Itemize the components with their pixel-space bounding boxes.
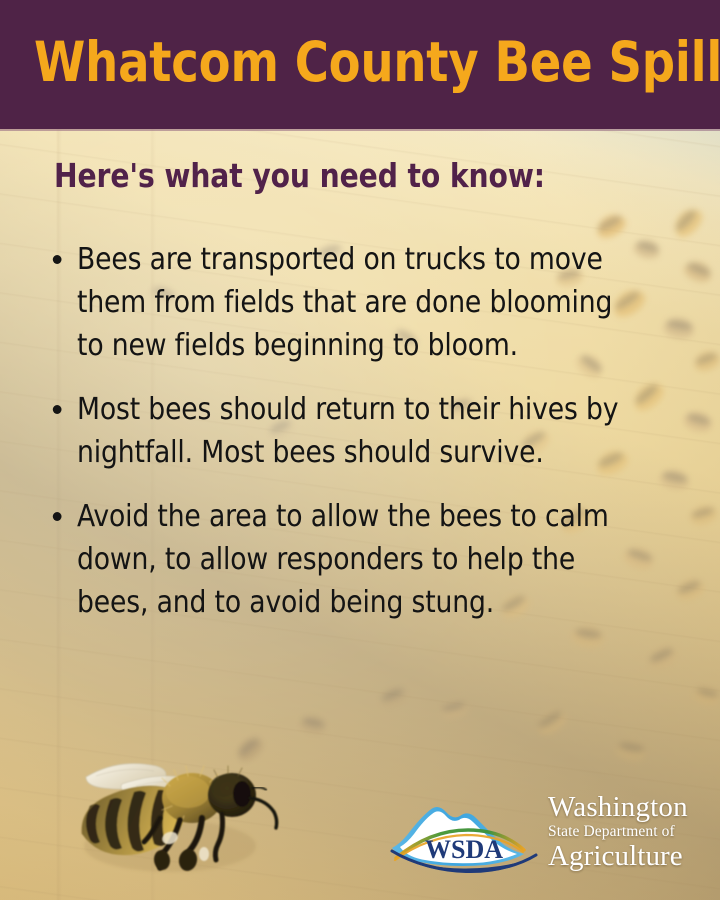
honeybee-photo [52,742,292,887]
poster-canvas: Whatcom County Bee Spill Here's what you… [0,0,720,900]
bullet-dot-icon [53,405,62,414]
wordmark-line-state-department-of: State Department of [548,823,713,841]
subtitle: Here's what you need to know: [54,156,545,196]
wsda-logo-mark: WSDA [390,788,540,876]
bullet-dot-icon [53,255,62,264]
list-item: Most bees should return to their hives b… [46,388,659,474]
wsda-acronym-text: WSDA [425,835,503,864]
wordmark-line-agriculture: Agriculture [548,841,713,872]
bullet-dot-icon [53,512,62,521]
page-title: Whatcom County Bee Spill [34,29,654,95]
wordmark-line-washington: Washington [548,792,713,822]
bullet-text: Avoid the area to allow the bees to calm… [77,499,609,620]
agency-wordmark: Washington State Department of Agricultu… [548,792,713,872]
list-item: Bees are transported on trucks to move t… [46,238,644,367]
info-bullet-list: Bees are transported on trucks to move t… [46,238,656,645]
bullet-text: Most bees should return to their hives b… [77,392,618,470]
list-item: Avoid the area to allow the bees to calm… [46,495,635,624]
bullet-text: Bees are transported on trucks to move t… [77,242,612,363]
